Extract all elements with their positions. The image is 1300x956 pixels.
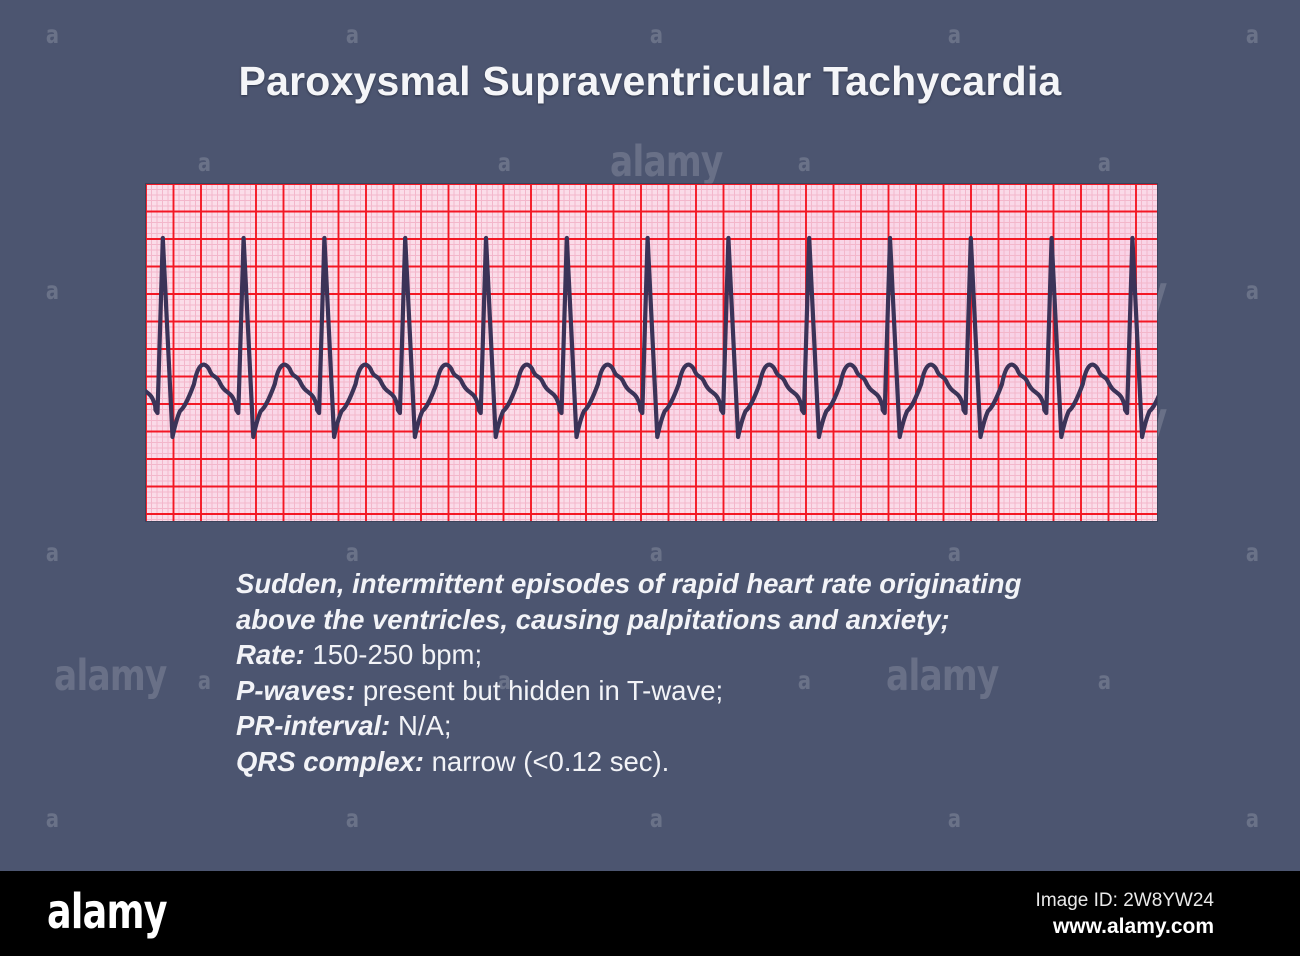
watermark-letter: a	[198, 150, 211, 175]
ecg-waveform-chart	[146, 184, 1157, 521]
watermark-letter: a	[46, 540, 59, 565]
watermark-letter: a	[1246, 806, 1259, 831]
description-row-rate: Rate: 150-250 bpm;	[236, 637, 1116, 673]
watermark-letter: a	[1246, 22, 1259, 47]
watermark-letter: a	[46, 278, 59, 303]
watermark-letter: a	[1246, 278, 1259, 303]
watermark-wordmark: alamy	[54, 655, 166, 698]
watermark-wordmark: alamy	[610, 141, 722, 184]
watermark-letter: a	[1098, 150, 1111, 175]
image-id-text: Image ID: 2W8YW24	[1036, 890, 1214, 912]
value-p-waves: present but hidden in T-wave;	[355, 675, 723, 706]
value-pr-interval: N/A;	[390, 710, 451, 741]
label-rate: Rate:	[236, 639, 305, 670]
label-pr-interval: PR-interval:	[236, 710, 390, 741]
watermark-letter: a	[948, 22, 961, 47]
value-rate: 150-250 bpm;	[305, 639, 482, 670]
page-title: Paroxysmal Supraventricular Tachycardia	[0, 58, 1300, 105]
description-row-pr-interval: PR-interval: N/A;	[236, 708, 1116, 744]
footer-bar	[0, 871, 1300, 956]
screenshot-root: Paroxysmal Supraventricular Tachycardia …	[0, 0, 1300, 956]
watermark-letter: a	[46, 806, 59, 831]
label-p-waves: P-waves:	[236, 675, 355, 706]
watermark-letter: a	[46, 22, 59, 47]
watermark-letter: a	[650, 806, 663, 831]
description-intro-line-2: above the ventricles, causing palpitatio…	[236, 602, 1116, 638]
watermark-letter: a	[1246, 540, 1259, 565]
watermark-letter: a	[798, 150, 811, 175]
watermark-letter: a	[650, 540, 663, 565]
description-row-qrs-complex: QRS complex: narrow (<0.12 sec).	[236, 744, 1116, 780]
watermark-letter: a	[346, 22, 359, 47]
watermark-letter: a	[948, 540, 961, 565]
watermark-letter: a	[346, 540, 359, 565]
description-intro-line-1: Sudden, intermittent episodes of rapid h…	[236, 566, 1116, 602]
watermark-letter: a	[650, 22, 663, 47]
alamy-url-text: www.alamy.com	[1053, 915, 1214, 939]
label-qrs-complex: QRS complex:	[236, 746, 424, 777]
watermark-letter: a	[346, 806, 359, 831]
value-qrs-complex: narrow (<0.12 sec).	[424, 746, 669, 777]
alamy-logo: alamy	[47, 884, 167, 940]
description-row-p-waves: P-waves: present but hidden in T-wave;	[236, 673, 1116, 709]
watermark-letter: a	[498, 150, 511, 175]
ecg-strip-panel	[146, 184, 1157, 521]
description-block: Sudden, intermittent episodes of rapid h…	[236, 566, 1116, 779]
watermark-letter: a	[948, 806, 961, 831]
watermark-letter: a	[198, 668, 211, 693]
